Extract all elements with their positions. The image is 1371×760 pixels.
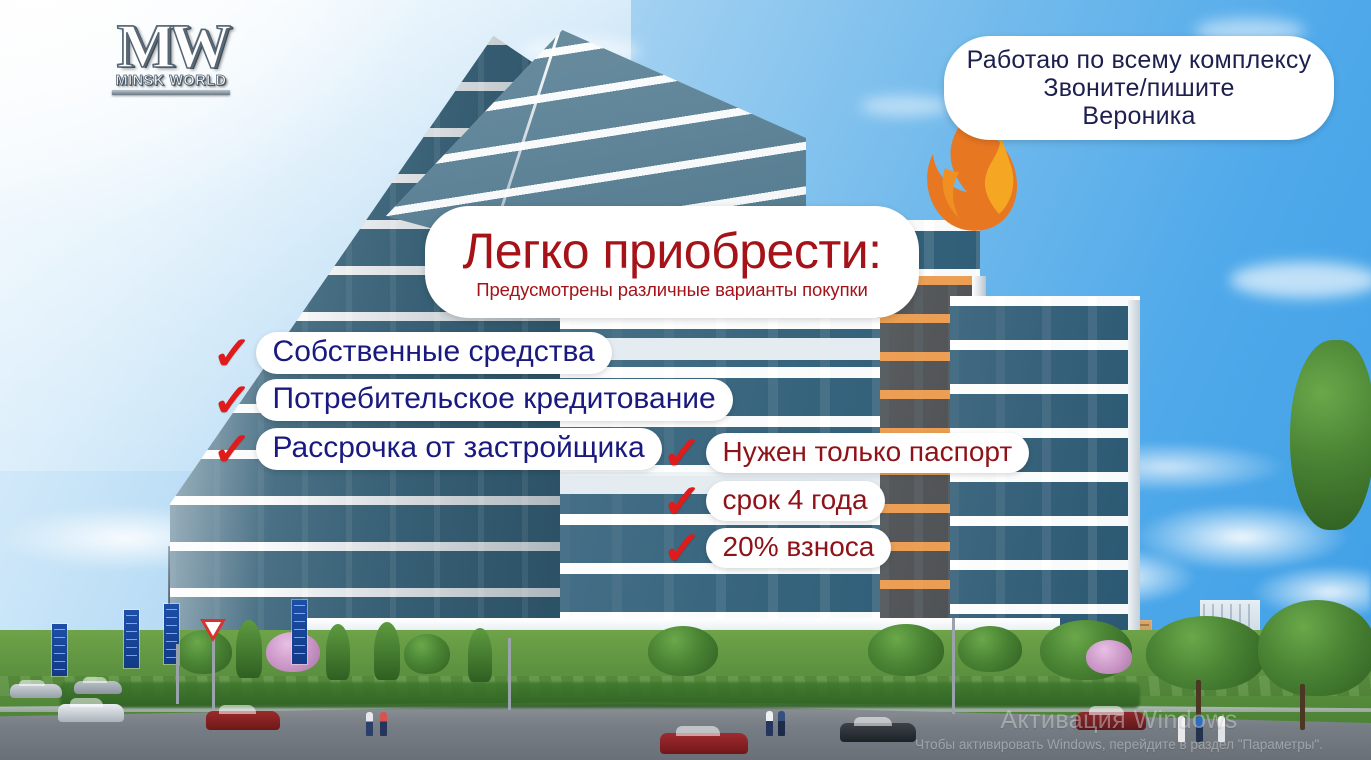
car <box>206 711 280 730</box>
cloud <box>1230 262 1371 298</box>
check-icon: ✓ <box>662 478 702 524</box>
contact-callout[interactable]: Работаю по всему комплексу Звоните/пишит… <box>944 36 1334 140</box>
term-label: Нужен только паспорт <box>706 433 1030 473</box>
term-label: 20% взноса <box>706 528 892 568</box>
option-label: Потребительское кредитование <box>256 379 733 421</box>
term-row-downpayment[interactable]: ✓ 20% взноса <box>663 525 891 571</box>
car <box>660 733 748 754</box>
contact-line-3: Вероника <box>1082 102 1195 130</box>
tree <box>958 626 1022 672</box>
check-icon: ✓ <box>212 330 252 376</box>
street-banner <box>292 600 307 664</box>
tree <box>404 634 450 674</box>
tree <box>1258 600 1371 696</box>
lamp-pole <box>952 618 955 714</box>
pedestrian <box>1178 716 1185 742</box>
pedestrian <box>1196 716 1203 742</box>
contact-line-2: Звоните/пишите <box>1043 74 1234 102</box>
headline-subtitle: Предусмотрены различные варианты покупки <box>476 279 867 301</box>
sign-pole <box>212 632 215 710</box>
option-row-own-funds[interactable]: ✓ Собственные средства <box>213 330 612 376</box>
car <box>58 704 124 722</box>
term-row-duration[interactable]: ✓ срок 4 года <box>663 478 885 524</box>
minsk-world-logo: MW MINSK WORLD <box>96 18 246 95</box>
tree <box>374 622 400 680</box>
poster-canvas: MW MINSK WORLD Работаю по всему комплекс… <box>0 0 1371 760</box>
pedestrian <box>1218 716 1225 742</box>
option-label: Рассрочка от застройщика <box>256 428 662 470</box>
tree <box>1146 616 1266 690</box>
car <box>74 681 122 694</box>
tree <box>468 628 492 682</box>
option-label: Собственные средства <box>256 332 612 374</box>
option-row-developer-installment[interactable]: ✓ Рассрочка от застройщика <box>213 426 662 472</box>
check-icon: ✓ <box>212 377 252 423</box>
tree <box>1086 640 1132 674</box>
tree <box>326 624 350 680</box>
check-icon: ✓ <box>662 525 702 571</box>
contact-line-1: Работаю по всему комплексу <box>967 46 1312 74</box>
check-icon: ✓ <box>212 426 252 472</box>
term-row-passport[interactable]: ✓ Нужен только паспорт <box>663 430 1029 476</box>
logo-wordmark: MINSK WORLD <box>96 73 246 89</box>
tree <box>868 624 944 676</box>
pedestrian <box>380 712 387 736</box>
term-label: срок 4 года <box>706 481 885 521</box>
car <box>1076 712 1146 730</box>
tree <box>236 620 262 678</box>
option-row-consumer-credit[interactable]: ✓ Потребительское кредитование <box>213 377 733 423</box>
yield-sign-icon <box>200 619 226 642</box>
logo-monogram: MW <box>96 18 246 77</box>
tree <box>1290 340 1371 530</box>
sign-pole <box>508 638 511 710</box>
headline-callout: Легко приобрести: Предусмотрены различны… <box>425 206 919 318</box>
tree-trunk <box>1300 684 1305 730</box>
pedestrian <box>778 711 785 736</box>
check-icon: ✓ <box>662 430 702 476</box>
hedge-row <box>60 682 1140 708</box>
tree <box>648 626 718 676</box>
street-banner <box>124 610 139 668</box>
logo-underline <box>112 90 230 95</box>
car <box>10 684 62 698</box>
sign-pole <box>176 644 179 704</box>
pedestrian <box>766 711 773 736</box>
car <box>840 723 916 742</box>
headline-title: Легко приобрести: <box>462 226 881 276</box>
street-banner <box>52 624 67 676</box>
pedestrian <box>366 712 373 736</box>
